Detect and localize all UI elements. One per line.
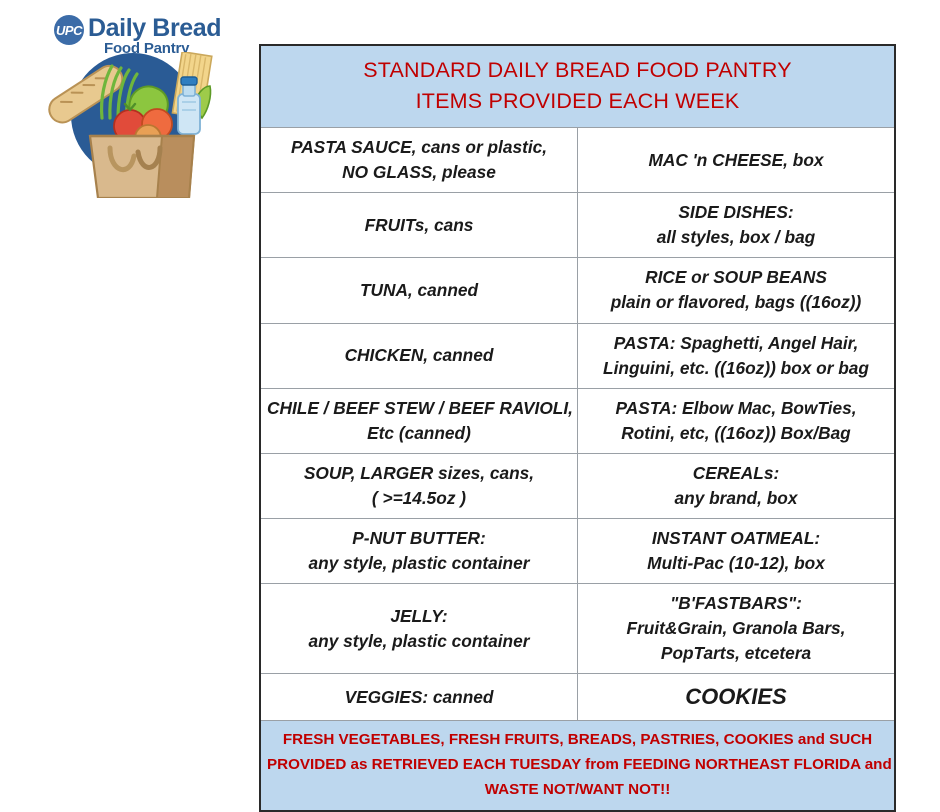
item-cell-left: PASTA SAUCE, cans or plastic, NO GLASS, …	[260, 128, 578, 193]
item-line: FRUITs, cans	[267, 213, 571, 238]
table-row: SOUP, LARGER sizes, cans, ( >=14.5oz ) C…	[260, 453, 895, 518]
item-line: PASTA: Spaghetti, Angel Hair,	[584, 331, 888, 356]
table-row: CHICKEN, canned PASTA: Spaghetti, Angel …	[260, 323, 895, 388]
upc-badge-icon: UPC	[54, 15, 84, 45]
item-cell-right: COOKIES	[578, 674, 896, 721]
item-line: TUNA, canned	[267, 278, 571, 303]
item-line: "B'FASTBARS":	[584, 591, 888, 616]
item-line: PopTarts, etcetera	[584, 641, 888, 666]
item-cell-left: CHILE / BEEF STEW / BEEF RAVIOLI, Etc (c…	[260, 388, 578, 453]
footer-line-3: WASTE NOT/WANT NOT!!	[267, 778, 888, 803]
item-cell-left: SOUP, LARGER sizes, cans, ( >=14.5oz )	[260, 453, 578, 518]
item-line: any brand, box	[584, 486, 888, 511]
item-line: PASTA SAUCE, cans or plastic,	[267, 135, 571, 160]
item-line: NO GLASS, please	[267, 160, 571, 185]
item-line: all styles, box / bag	[584, 225, 888, 250]
page-title-line-2: ITEMS PROVIDED EACH WEEK	[265, 86, 890, 117]
table-row: FRUITs, cans SIDE DISHES: all styles, bo…	[260, 193, 895, 258]
item-line: JELLY:	[267, 604, 571, 629]
pantry-logo: UPC Daily Bread Food Pantry	[26, 8, 241, 198]
item-line: SOUP, LARGER sizes, cans,	[267, 461, 571, 486]
item-line: CHILE / BEEF STEW / BEEF RAVIOLI,	[267, 396, 571, 421]
item-cell-left: TUNA, canned	[260, 258, 578, 323]
page-title-line-1: STANDARD DAILY BREAD FOOD PANTRY	[265, 55, 890, 86]
item-line: ( >=14.5oz )	[267, 486, 571, 511]
pantry-table-body: STANDARD DAILY BREAD FOOD PANTRY ITEMS P…	[260, 45, 895, 811]
footer-note: FRESH VEGETABLES, FRESH FRUITS, BREADS, …	[260, 721, 895, 811]
item-line: CEREALs:	[584, 461, 888, 486]
page-title: STANDARD DAILY BREAD FOOD PANTRY ITEMS P…	[260, 45, 895, 128]
item-cell-right: INSTANT OATMEAL: Multi-Pac (10-12), box	[578, 518, 896, 583]
item-cell-left: CHICKEN, canned	[260, 323, 578, 388]
item-cell-left: FRUITs, cans	[260, 193, 578, 258]
logo-title: Daily Bread	[88, 14, 221, 43]
grocery-bag-illustration-icon	[26, 52, 241, 198]
pantry-items-table: STANDARD DAILY BREAD FOOD PANTRY ITEMS P…	[259, 44, 896, 812]
item-line: CHICKEN, canned	[267, 343, 571, 368]
item-line: any style, plastic container	[267, 551, 571, 576]
item-line: P-NUT BUTTER:	[267, 526, 571, 551]
item-cell-left: JELLY: any style, plastic container	[260, 584, 578, 674]
item-line: Multi-Pac (10-12), box	[584, 551, 888, 576]
item-line: PASTA: Elbow Mac, BowTies,	[584, 396, 888, 421]
item-line: MAC 'n CHEESE, box	[584, 148, 888, 173]
table-row: JELLY: any style, plastic container "B'F…	[260, 584, 895, 674]
item-cell-left: P-NUT BUTTER: any style, plastic contain…	[260, 518, 578, 583]
footer-line-1: FRESH VEGETABLES, FRESH FRUITS, BREADS, …	[267, 728, 888, 753]
item-line: Fruit&Grain, Granola Bars,	[584, 616, 888, 641]
item-cell-right: PASTA: Elbow Mac, BowTies, Rotini, etc, …	[578, 388, 896, 453]
table-title-row: STANDARD DAILY BREAD FOOD PANTRY ITEMS P…	[260, 45, 895, 128]
item-line: plain or flavored, bags ((16oz))	[584, 290, 888, 315]
item-cell-right: SIDE DISHES: all styles, box / bag	[578, 193, 896, 258]
item-cell-right: PASTA: Spaghetti, Angel Hair, Linguini, …	[578, 323, 896, 388]
item-line: any style, plastic container	[267, 629, 571, 654]
item-cell-left: VEGGIES: canned	[260, 674, 578, 721]
item-cell-right: RICE or SOUP BEANS plain or flavored, ba…	[578, 258, 896, 323]
item-cell-right: "B'FASTBARS": Fruit&Grain, Granola Bars,…	[578, 584, 896, 674]
item-line: RICE or SOUP BEANS	[584, 265, 888, 290]
item-line: SIDE DISHES:	[584, 200, 888, 225]
table-row: VEGGIES: canned COOKIES	[260, 674, 895, 721]
item-cell-right: MAC 'n CHEESE, box	[578, 128, 896, 193]
item-line: Etc (canned)	[267, 421, 571, 446]
item-line: Rotini, etc, ((16oz)) Box/Bag	[584, 421, 888, 446]
item-cell-right: CEREALs: any brand, box	[578, 453, 896, 518]
table-row: TUNA, canned RICE or SOUP BEANS plain or…	[260, 258, 895, 323]
table-row: PASTA SAUCE, cans or plastic, NO GLASS, …	[260, 128, 895, 193]
item-line: Linguini, etc. ((16oz)) box or bag	[584, 356, 888, 381]
item-line: COOKIES	[584, 681, 888, 713]
table-footer-row: FRESH VEGETABLES, FRESH FRUITS, BREADS, …	[260, 721, 895, 811]
table-row: CHILE / BEEF STEW / BEEF RAVIOLI, Etc (c…	[260, 388, 895, 453]
item-line: VEGGIES: canned	[267, 685, 571, 710]
table-row: P-NUT BUTTER: any style, plastic contain…	[260, 518, 895, 583]
footer-line-2: PROVIDED as RETRIEVED EACH TUESDAY from …	[267, 753, 888, 778]
item-line: INSTANT OATMEAL:	[584, 526, 888, 551]
